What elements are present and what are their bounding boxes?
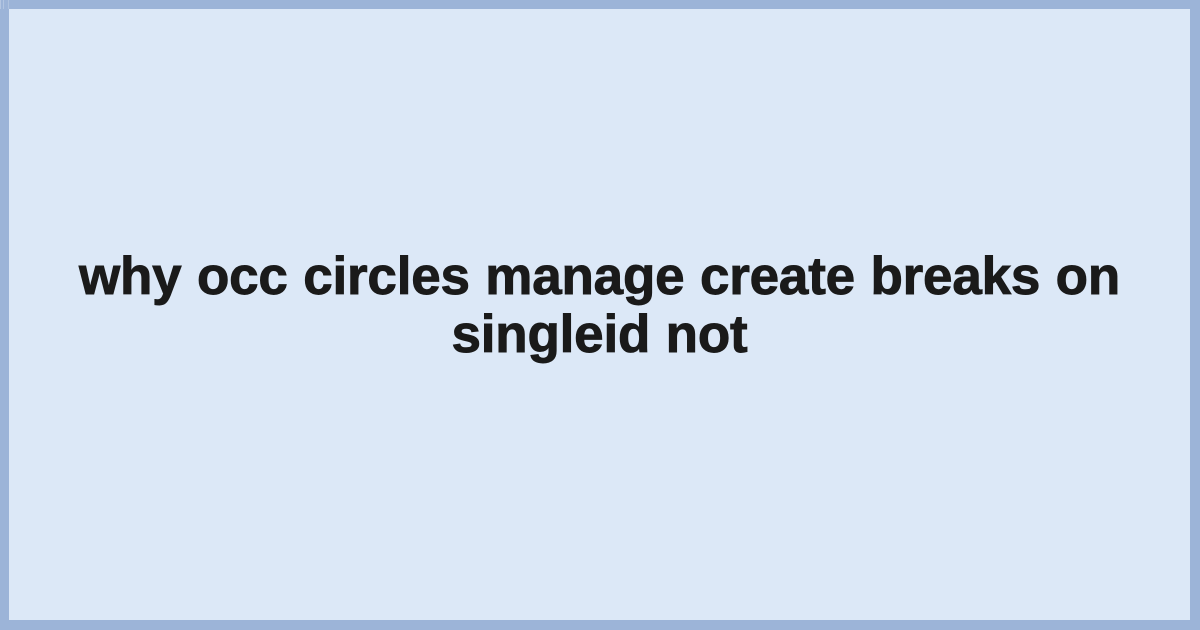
og-card: why occ circles manage create breaks on … <box>0 0 1200 630</box>
corner-artifact <box>0 0 14 9</box>
page-title: why occ circles manage create breaks on … <box>51 248 1148 364</box>
card-surface: why occ circles manage create breaks on … <box>9 9 1190 620</box>
headline-block: why occ circles manage create breaks on … <box>9 248 1190 364</box>
